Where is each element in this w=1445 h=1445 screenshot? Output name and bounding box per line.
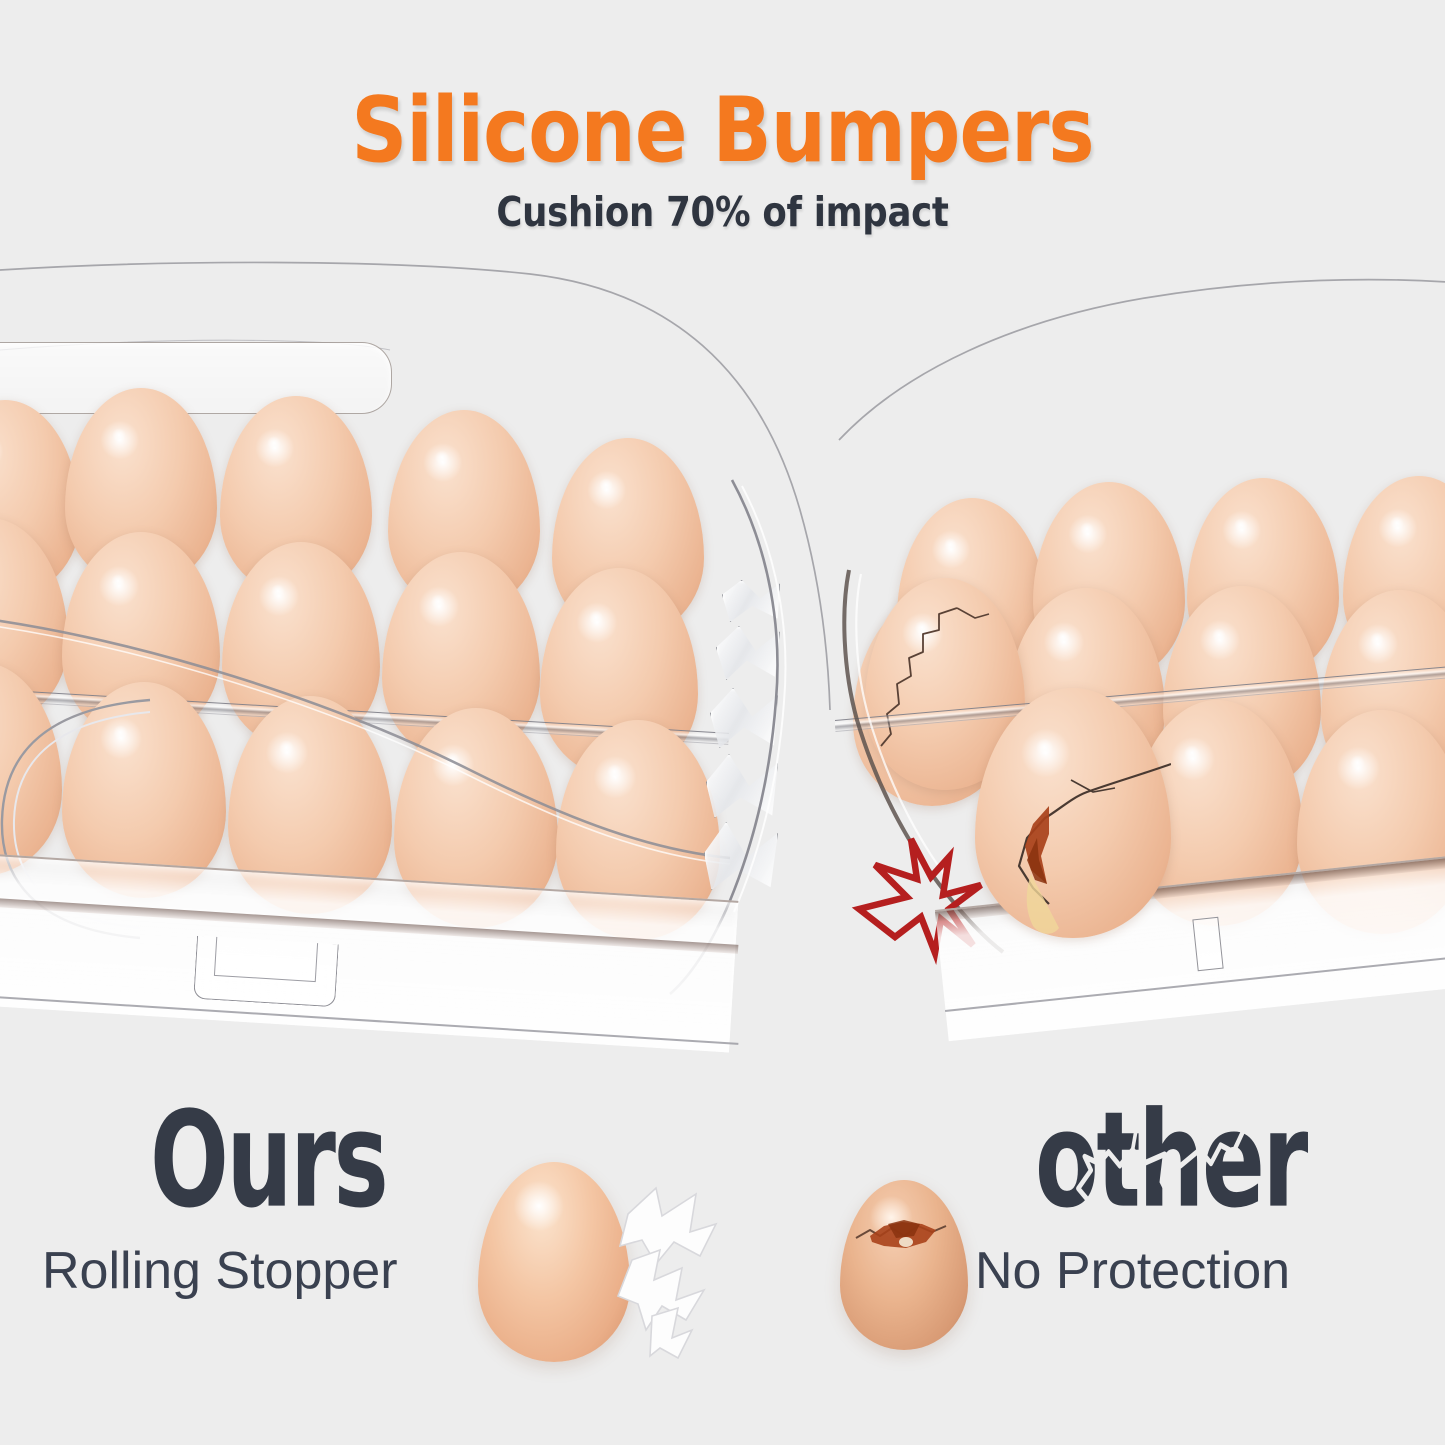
page-title: Silicone Bumpers <box>22 86 1424 176</box>
ours-label: Ours <box>150 1095 386 1227</box>
other-product-photo <box>835 250 1445 1060</box>
silicone-bumper-icon <box>612 1180 724 1365</box>
product-comparison-image: Silicone Bumpers Cushion 70% of impact <box>0 0 1445 1445</box>
sample-egg-cracked <box>840 1180 968 1350</box>
other-sublabel: No Protection <box>975 1245 1290 1297</box>
other-label: other <box>1035 1084 1306 1238</box>
ours-product-photo <box>0 250 840 1060</box>
sample-egg-intact <box>478 1162 630 1362</box>
other-label-wrap: other <box>1035 1095 1306 1227</box>
page-subtitle: Cushion 70% of impact <box>29 192 1416 233</box>
crack-icon <box>975 688 1171 938</box>
crack-icon <box>840 1180 968 1350</box>
ours-sublabel: Rolling Stopper <box>42 1245 398 1297</box>
other-label-text-wrap: other <box>1035 1095 1306 1227</box>
front-handle-inner <box>214 937 318 982</box>
front-tab <box>1192 917 1223 971</box>
egg-broken-leaking <box>975 688 1171 938</box>
